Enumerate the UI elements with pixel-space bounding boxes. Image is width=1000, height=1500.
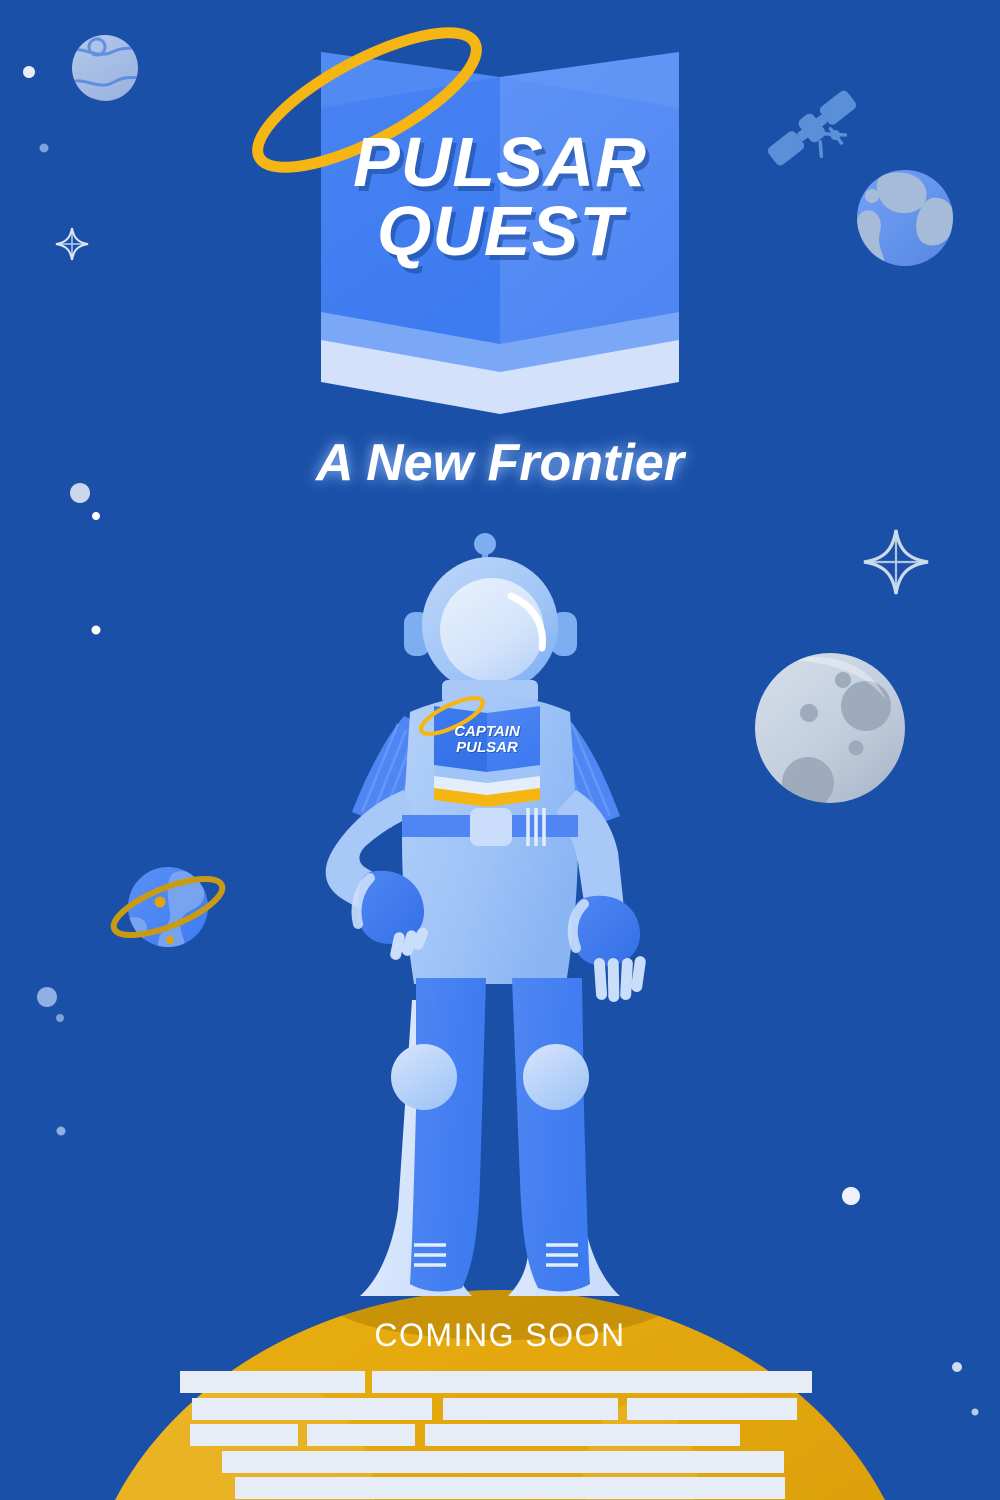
logo-title: PULSAR QUEST [0, 128, 1000, 265]
placeholder-bar-row [190, 1424, 740, 1446]
poster-subtitle: A New Frontier [0, 433, 1000, 493]
placeholder-bar-row [235, 1477, 785, 1499]
badge-line1: CAPTAIN [454, 723, 520, 740]
badge-line2: PULSAR [432, 740, 542, 756]
status-coming-soon: COMING SOON [0, 1317, 1000, 1354]
placeholder-bar-row [180, 1371, 812, 1393]
logo-title-line1: PULSAR [353, 123, 647, 201]
placeholder-bar-row [192, 1398, 797, 1420]
poster-canvas: PULSAR QUEST A New Frontier [0, 0, 1000, 1500]
chest-badge-text: CAPTAIN PULSAR [432, 724, 542, 755]
logo-title-line2: QUEST [0, 197, 1000, 266]
placeholder-bar-row [222, 1451, 784, 1473]
